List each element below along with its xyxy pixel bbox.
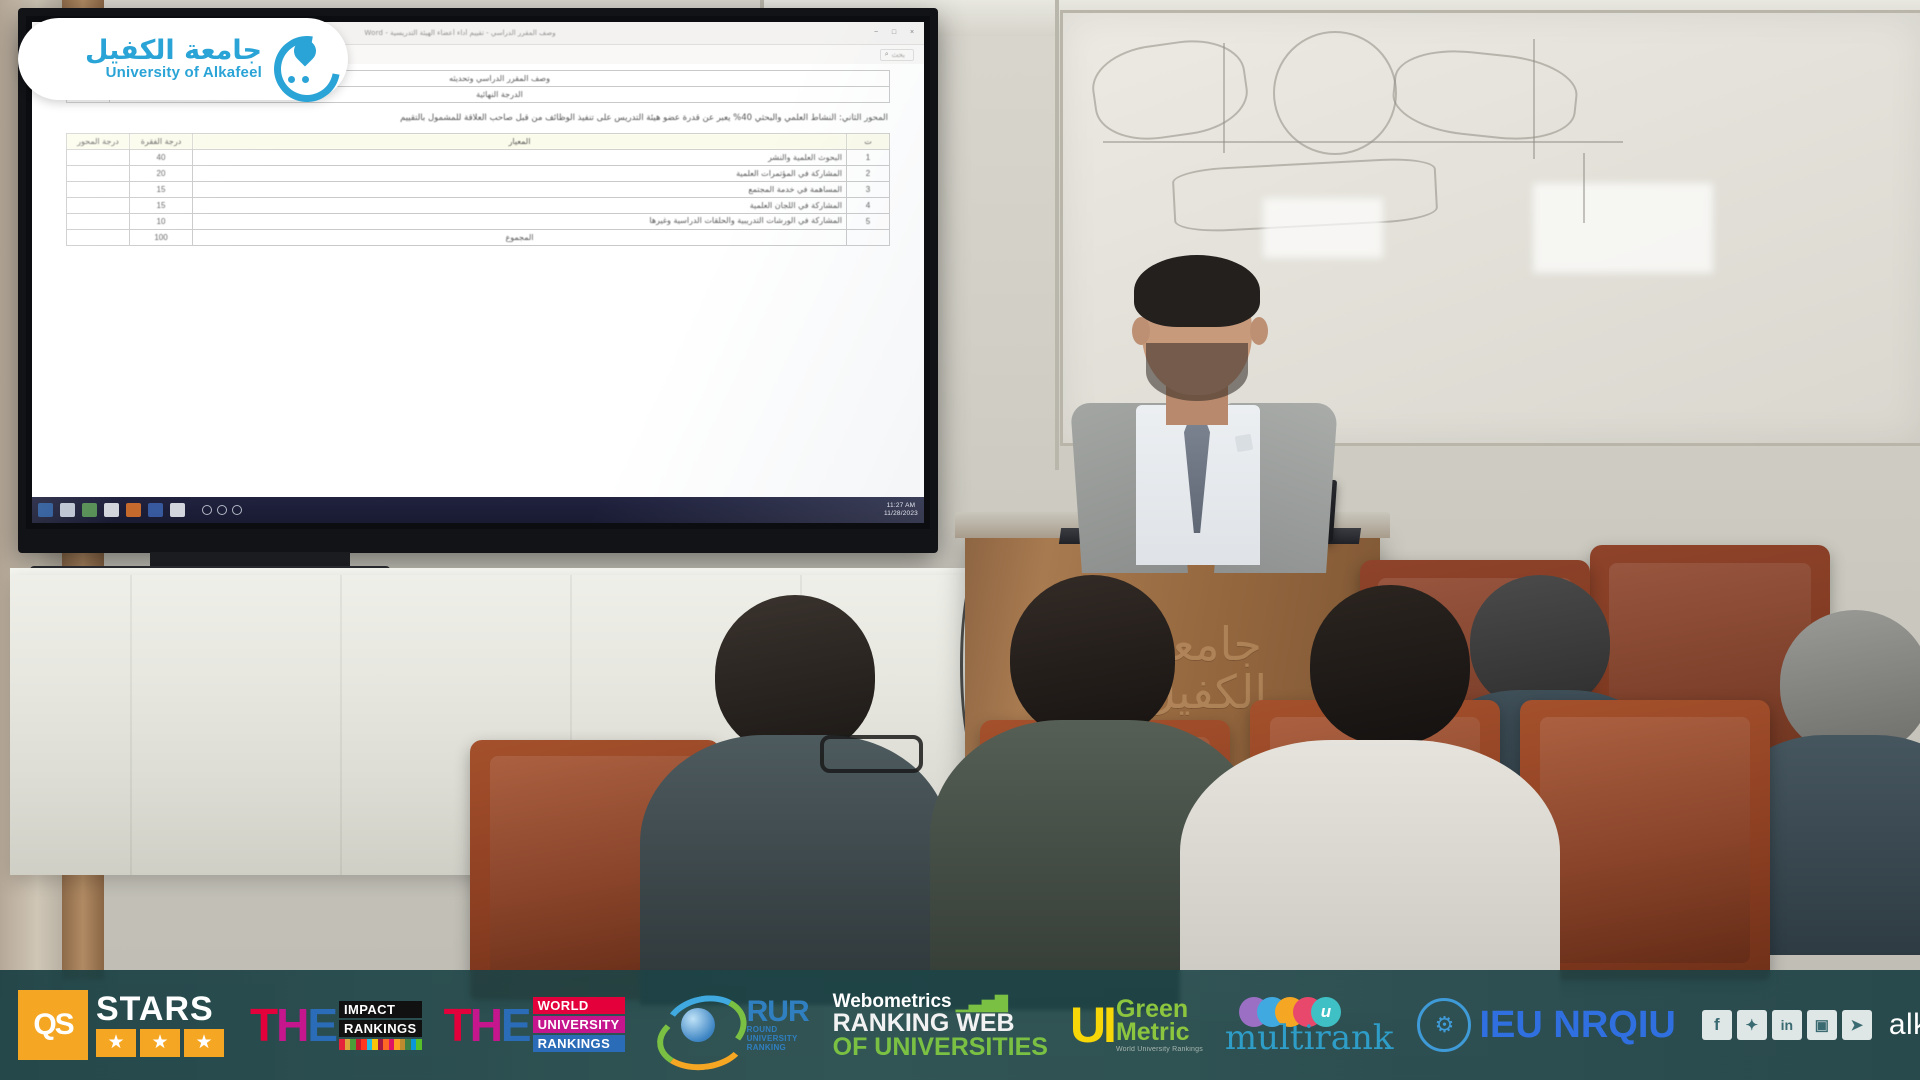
lecture-hall-photo: W وصف المقرر الدراسي - تقييم أداء أعضاء …: [0, 0, 1920, 1080]
social-links[interactable]: f ✦ in ▣ ➤ alkafeeleduiq: [1702, 1008, 1920, 1042]
total-label: المجموع: [193, 229, 847, 245]
clock-date: 11/28/2023: [884, 510, 918, 518]
row-index: 2: [847, 165, 890, 181]
col-header-index: ت: [847, 133, 890, 149]
network-icon[interactable]: [202, 505, 212, 515]
ranking-badges-bar: QS STARS ★ ★ ★ THE IMPACT RANKINGS: [0, 970, 1920, 1080]
webometrics-line-2: RANKING WEB: [833, 1011, 1048, 1035]
row-criterion: المشاركة في الورشات التدريبية والحلقات ا…: [193, 213, 847, 229]
rur-eye-icon: [651, 994, 743, 1056]
row-criterion: المساهمة في خدمة المجتمع: [193, 181, 847, 197]
search-icon: ⌕: [885, 51, 889, 59]
instagram-icon[interactable]: ▣: [1807, 1010, 1837, 1040]
row-criterion: المشاركة في المؤتمرات العلمية: [193, 165, 847, 181]
presenter: [1060, 255, 1340, 565]
linkedin-icon[interactable]: in: [1772, 1010, 1802, 1040]
star-icon: ★: [140, 1029, 180, 1057]
taskbar-clock[interactable]: 11:27 AM 11/28/2023: [884, 502, 918, 518]
ear-right: [1250, 317, 1268, 345]
star-icon: ★: [96, 1029, 136, 1057]
badge-u-multirank[interactable]: u multirank: [1225, 997, 1394, 1053]
search-icon[interactable]: [60, 503, 75, 517]
start-icon[interactable]: [38, 503, 53, 517]
criteria-table: درجة المحور درجة الفقرة المعيار ت 40 الب…: [66, 133, 890, 246]
search-placeholder: بحث: [892, 51, 905, 59]
minimize-button[interactable]: −: [870, 27, 882, 39]
logo-english-name: University of Alkafeel: [85, 64, 262, 81]
badge-qs-stars[interactable]: QS STARS ★ ★ ★: [18, 990, 224, 1060]
system-tray[interactable]: [202, 505, 242, 515]
ear-left: [1132, 317, 1150, 345]
app-icon[interactable]: [126, 503, 141, 517]
twitter-icon[interactable]: ✦: [1737, 1010, 1767, 1040]
rur-line-3: RANKING: [747, 1043, 809, 1052]
beard: [1146, 343, 1248, 401]
qs-stars-word: STARS: [96, 993, 224, 1025]
row-criterion: البحوث العلمية والنشر: [193, 149, 847, 165]
attendee-body: [640, 735, 950, 1005]
badge-webometrics[interactable]: Webometrics ▁▃▅▇ RANKING WEB OF UNIVERSI…: [833, 992, 1048, 1059]
badge-the-world-university-rankings[interactable]: THE WORLD UNIVERSITY RANKINGS: [444, 997, 625, 1054]
rur-abbr: RUR: [747, 999, 809, 1025]
row-score: 40: [130, 149, 193, 165]
windows-taskbar: 11:27 AM 11/28/2023: [32, 497, 924, 523]
table-row: 10 المشاركة في الورشات التدريبية والحلقا…: [67, 213, 890, 229]
facebook-icon[interactable]: f: [1702, 1010, 1732, 1040]
row-index: 5: [847, 213, 890, 229]
the-wordmark: THE: [444, 1005, 530, 1045]
multirank-u-mark: u: [1311, 997, 1341, 1027]
attendee-head: [1780, 610, 1920, 755]
col-header-item-score: درجة الفقرة: [130, 133, 193, 149]
university-tag: UNIVERSITY: [533, 1016, 625, 1033]
mail-icon[interactable]: [104, 503, 119, 517]
row-score: 10: [130, 213, 193, 229]
notification-icon[interactable]: [232, 505, 242, 515]
word-taskbar-icon[interactable]: [170, 503, 185, 517]
university-logo: جامعة الكفيل University of Alkafeel: [18, 18, 348, 100]
section-paragraph: المحور الثاني: النشاط العلمي والبحثي 40%…: [68, 113, 888, 125]
maximize-button[interactable]: □: [888, 27, 900, 39]
telegram-icon[interactable]: ➤: [1842, 1010, 1872, 1040]
col-header-axis-score: درجة المحور: [67, 133, 130, 149]
row-score: 15: [130, 181, 193, 197]
search-box[interactable]: ⌕ بحث: [880, 49, 914, 61]
table-row: 15 المساهمة في خدمة المجتمع 3: [67, 181, 890, 197]
impact-tag: IMPACT: [339, 1001, 422, 1018]
metric-word: Metric: [1116, 1021, 1203, 1044]
rankings-tag: RANKINGS: [339, 1020, 422, 1037]
ui-subtitle: World University Rankings: [1116, 1046, 1203, 1053]
rur-line-2: UNIVERSITY: [747, 1034, 809, 1043]
row-index: 1: [847, 149, 890, 165]
row-score: 20: [130, 165, 193, 181]
sdg-color-strip: [339, 1039, 422, 1050]
table-row: 40 البحوث العلمية والنشر 1: [67, 149, 890, 165]
rankings-tag: RANKINGS: [533, 1035, 625, 1052]
row-score: 15: [130, 197, 193, 213]
world-tag: WORLD: [533, 997, 625, 1014]
row-index: 4: [847, 197, 890, 213]
the-wordmark: THE: [250, 1005, 336, 1045]
ui-wordmark: UI: [1070, 1003, 1114, 1047]
social-handle[interactable]: alkafeeleduiq: [1889, 1008, 1920, 1042]
lapel-badge: [1235, 434, 1254, 453]
table-header-row: درجة المحور درجة الفقرة المعيار ت: [67, 133, 890, 149]
file-explorer-icon[interactable]: [82, 503, 97, 517]
row-index: 3: [847, 181, 890, 197]
attendee-head: [715, 595, 875, 755]
row-criterion: المشاركة في اللجان العلمية: [193, 197, 847, 213]
volume-icon[interactable]: [217, 505, 227, 515]
growth-chart-icon: ▁▃▅▇: [956, 994, 1008, 1011]
eyeglasses: [820, 735, 923, 773]
webometrics-line-3: OF UNIVERSITIES: [833, 1035, 1048, 1059]
wall-seam: [1055, 0, 1059, 470]
ieu-nrqiu-text: IEU NRQIU: [1479, 1008, 1675, 1042]
qs-star-rating: ★ ★ ★: [96, 1029, 224, 1057]
total-score: 100: [130, 229, 193, 245]
table-row: 20 المشاركة في المؤتمرات العلمية 2: [67, 165, 890, 181]
col-header-criterion: المعيار: [193, 133, 847, 149]
ieu-seal-icon: ⚙: [1417, 998, 1471, 1052]
badge-ieu-nrqiu[interactable]: ⚙ IEU NRQIU: [1417, 998, 1675, 1052]
logo-arabic-name: جامعة الكفيل: [85, 37, 262, 64]
alkafeel-droplet-icon: [272, 28, 334, 90]
clock-time: 11:27 AM: [884, 502, 918, 510]
attendee-head: [1310, 585, 1470, 745]
hair: [1134, 255, 1260, 327]
badge-ui-greenmetric[interactable]: UI Green Metric World University Ranking…: [1070, 998, 1203, 1053]
table-row: 15 المشاركة في اللجان العلمية 4: [67, 197, 890, 213]
browser-icon[interactable]: [148, 503, 163, 517]
badge-the-impact-rankings[interactable]: THE IMPACT RANKINGS: [250, 1001, 422, 1050]
multirank-wordmark: multirank: [1225, 1023, 1394, 1053]
webometrics-wordmark: Webometrics: [833, 992, 952, 1011]
qs-mark: QS: [18, 990, 88, 1060]
badge-round-university-ranking[interactable]: RUR ROUND UNIVERSITY RANKING: [651, 994, 809, 1056]
star-icon: ★: [184, 1029, 224, 1057]
attendee-head: [1010, 575, 1175, 740]
table-total-row: 100 المجموع: [67, 229, 890, 245]
close-button[interactable]: ×: [906, 27, 918, 39]
